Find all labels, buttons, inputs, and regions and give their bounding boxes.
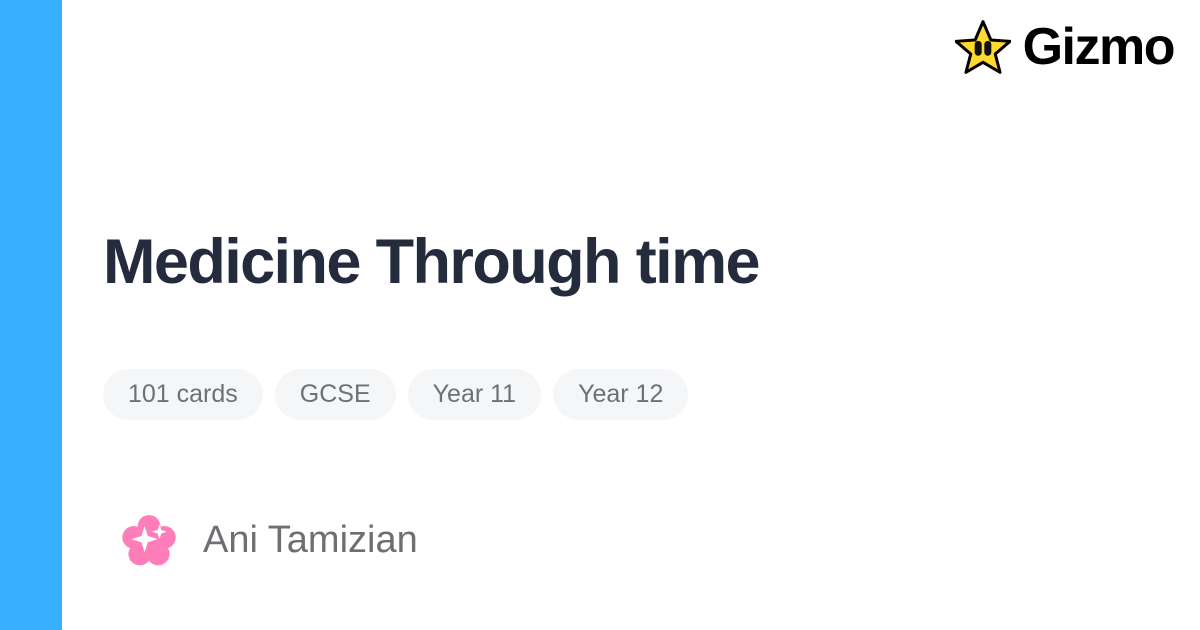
- badge-list: 101 cards GCSE Year 11 Year 12: [103, 369, 688, 420]
- share-card: Gizmo Medicine Through time 101 cards GC…: [0, 0, 1200, 630]
- left-accent-bar: [0, 0, 62, 630]
- author-name: Ani Tamizian: [203, 521, 418, 559]
- badge-level: GCSE: [275, 369, 396, 420]
- badge-card-count: 101 cards: [103, 369, 263, 420]
- page-title: Medicine Through time: [103, 228, 759, 297]
- deck-info: Medicine Through time 101 cards GCSE Yea…: [103, 0, 1153, 630]
- badge-year-12: Year 12: [553, 369, 688, 420]
- author-row: Ani Tamizian: [121, 512, 418, 568]
- badge-year-11: Year 11: [408, 369, 541, 420]
- avatar: [121, 512, 177, 568]
